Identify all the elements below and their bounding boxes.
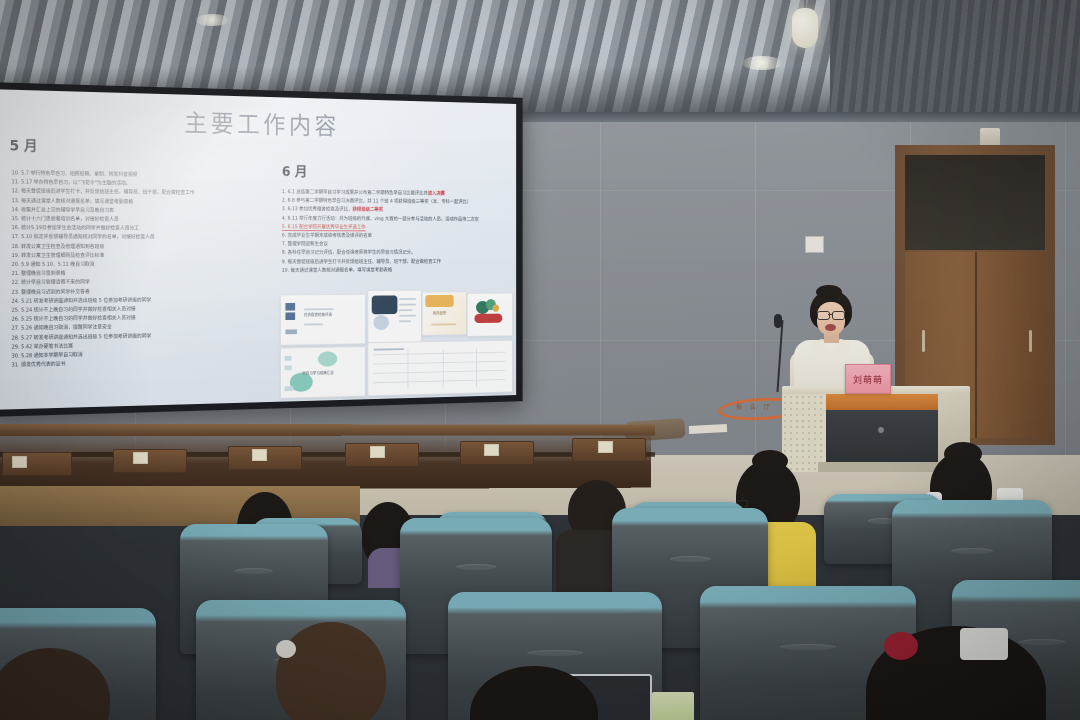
slide-title: 主要工作内容 bbox=[184, 104, 340, 142]
speaker-name-card: 刘萌萌 bbox=[845, 364, 891, 394]
podium-accent-band bbox=[826, 394, 938, 410]
ceiling-light-1 bbox=[195, 14, 229, 26]
door-transom-window bbox=[905, 155, 1045, 250]
speaker-hair-bun bbox=[816, 285, 842, 299]
glasses-bridge-icon bbox=[828, 314, 832, 315]
glasses-right-lens-icon bbox=[832, 311, 845, 320]
slide-column-heading-may: 5 月 bbox=[10, 135, 38, 155]
slide-bullet-line: 7. 整理学院迎新生会议 bbox=[282, 241, 511, 250]
thumbnail-poster-b bbox=[367, 290, 421, 345]
desk-white-pack[interactable] bbox=[960, 628, 1008, 660]
door-center-seam bbox=[975, 252, 977, 438]
slide-bullet-line: 8. 各科任早自习记分评估，配合任课老师将学生的早自习情况记分。 bbox=[282, 249, 511, 258]
thumbnail-poster-a: 优秀宿舍检查评选 bbox=[280, 294, 366, 346]
hair-tie bbox=[276, 640, 296, 658]
thumbnail-caption-a: 优秀宿舍检查评选 bbox=[304, 312, 332, 318]
audience-hair-bun bbox=[752, 450, 788, 472]
door-handle-right[interactable] bbox=[1029, 330, 1032, 352]
thumbnail-table bbox=[367, 340, 512, 397]
slide-bullet-line: 18. 转发公寓卫生检查及管理通知到各班级 bbox=[12, 243, 282, 252]
thumbnail-illustration bbox=[467, 293, 513, 337]
ceiling-light-2 bbox=[742, 56, 782, 70]
slide-bullets-may: 10. 5.7 举行特色早自习、拍照投稿、录制、转发抖音视频11. 5.17 举… bbox=[12, 169, 282, 371]
slide-bullet-line: 17. 5.10 拟定并反馈辅导员通知核对同学的名单，对接好检查人员 bbox=[12, 233, 282, 242]
projection-screen: 主要工作内容 5 月 6 月 10. 5.7 举行特色早自习、拍照投稿、录制、转… bbox=[0, 82, 523, 417]
glasses-left-lens-icon bbox=[817, 311, 830, 320]
slide-bullet-line: 10. 每天通过课堂人数核对通报名单，填写课堂考勤表格 bbox=[282, 266, 511, 275]
green-tissue-pack[interactable] bbox=[652, 692, 694, 720]
thumbnail-caption-c: 热烈祝贺 bbox=[433, 311, 446, 317]
podium-banner-text: 报 告 厅 bbox=[736, 402, 773, 411]
door-handle-left[interactable] bbox=[922, 330, 925, 352]
slide-bullet-line: 6. 完成毕业生学期末成绩考核表及课评的名单 bbox=[282, 232, 511, 241]
wall-emergency-light bbox=[980, 128, 1000, 146]
red-scrunchie bbox=[884, 632, 918, 660]
thumbnail-poster-c: 热烈祝贺 bbox=[422, 291, 467, 336]
slide-thumbnail-group: 优秀宿舍检查评选 热烈祝贺 bbox=[280, 293, 511, 397]
pendant-lamp-icon bbox=[792, 8, 818, 48]
wall-outlet-plate[interactable] bbox=[805, 236, 824, 253]
thumbnail-chart-slide: 早自习学习成果汇总 bbox=[280, 346, 366, 399]
microphone-icon bbox=[774, 314, 782, 328]
speaker-mouth bbox=[825, 324, 836, 331]
speaker-name-text: 刘萌萌 bbox=[853, 373, 883, 386]
audience-hair-bun bbox=[944, 442, 982, 466]
slide-column-heading-june: 6 月 bbox=[282, 162, 307, 181]
slide-bullets-june: 1. 6.1 总结第二学期早自习学习成果并公布第二学期特色早自习比赛评比并进入决… bbox=[282, 188, 511, 275]
ceiling-right-slats bbox=[830, 0, 1080, 120]
slide-surface: 主要工作内容 5 月 6 月 10. 5.7 举行特色早自习、拍照投稿、录制、转… bbox=[0, 89, 516, 410]
lecture-hall-photo: 主要工作内容 5 月 6 月 10. 5.7 举行特色早自习、拍照投稿、录制、转… bbox=[0, 0, 1080, 720]
audience-area bbox=[0, 430, 1080, 720]
thumbnail-caption-e: 早自习学习成果汇总 bbox=[302, 370, 334, 376]
